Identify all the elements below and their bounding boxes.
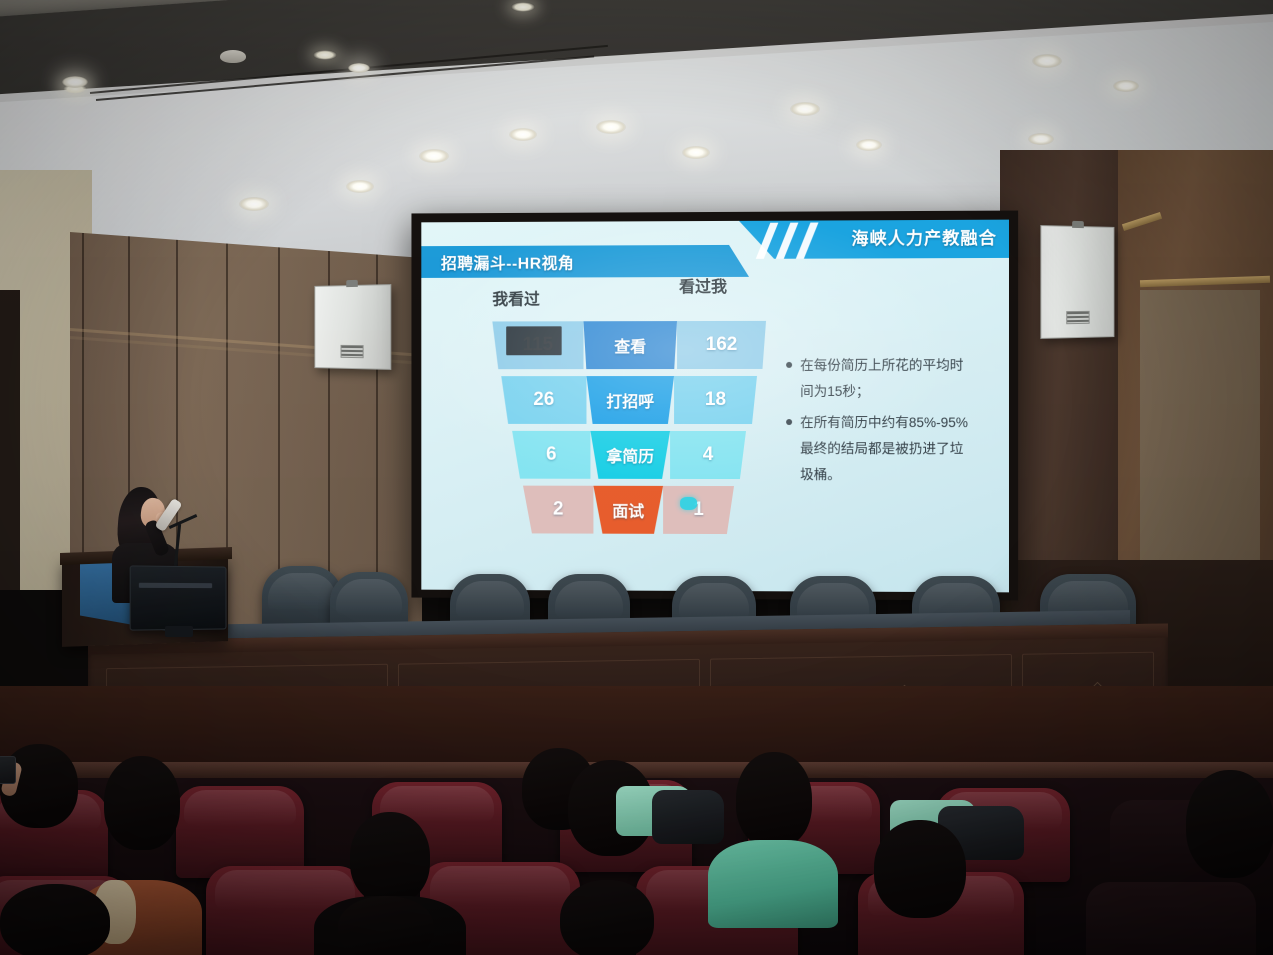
- funnel-right-value: 1: [663, 486, 734, 534]
- funnel-row: 115 查看 162: [492, 321, 766, 369]
- audience-seat: [1086, 882, 1256, 955]
- ceiling-downlight: [682, 146, 710, 159]
- ceiling-downlight: [346, 180, 374, 193]
- ceiling-downlight: [790, 102, 820, 116]
- mouse-cursor-highlight[interactable]: [680, 497, 697, 510]
- ceiling-downlight: [596, 120, 626, 134]
- speaker-grill-icon: [341, 345, 364, 358]
- funnel-stage-label: 面试: [593, 486, 663, 534]
- bullet-line: 间为15秒；: [800, 384, 869, 399]
- speaker-grill-icon: [1066, 311, 1089, 324]
- left-wall-dark-edge: [0, 290, 20, 590]
- bullet-line: 最终的结局都是被扔进了垃: [800, 441, 963, 456]
- slide-title: 招聘漏斗--HR视角: [441, 250, 574, 274]
- ceiling-downlight: [348, 63, 370, 73]
- audience-phone: [0, 756, 16, 784]
- audience-person-head: [104, 756, 180, 850]
- funnel-header-left: 我看过: [492, 286, 540, 310]
- slide-bullet-list: 在每份简历上所花的平均时 间为15秒； 在所有简历中约有85%-95% 最终的结…: [786, 353, 993, 494]
- ceiling-downlight: [856, 139, 882, 151]
- speaker-bracket: [346, 280, 358, 287]
- photo-scene: 海峡人力产教融合 招聘漏斗--HR视角 我看过 看过我 115 查看 162 2…: [0, 0, 1273, 955]
- audience-person-head: [736, 752, 812, 848]
- audience-person-head: [338, 896, 434, 955]
- screen-occlusion-artifact: [506, 326, 561, 355]
- funnel-header-right: 看过我: [679, 273, 727, 297]
- audience-person-shoulders: [708, 840, 838, 928]
- smoke-detector-icon: [220, 50, 246, 63]
- recruitment-funnel-chart: 我看过 看过我 115 查看 162 26 打招呼 18 6: [492, 321, 766, 541]
- ceiling-downlight: [509, 128, 537, 141]
- audience-person-head: [350, 812, 430, 904]
- ceiling-downlight: [1032, 54, 1062, 68]
- funnel-right-value: 4: [670, 431, 746, 479]
- audience-seat: [176, 786, 304, 878]
- wall-speaker-left: [314, 284, 391, 370]
- bullet-line: 圾桶。: [800, 467, 841, 482]
- monitor-stand: [165, 626, 193, 637]
- funnel-left-value: 26: [501, 376, 586, 424]
- podium-monitor[interactable]: [130, 565, 227, 630]
- monitor-screen-reflection: [139, 583, 212, 588]
- funnel-right-value: 18: [674, 376, 757, 424]
- projected-slide: 海峡人力产教融合 招聘漏斗--HR视角 我看过 看过我 115 查看 162 2…: [421, 220, 1009, 593]
- ceiling-downlight: [1113, 80, 1139, 92]
- wall-speaker-right: [1040, 225, 1114, 339]
- funnel-right-value: 162: [677, 321, 766, 369]
- audience-person-head: [1186, 770, 1273, 878]
- ceiling-downlight: [1028, 133, 1054, 145]
- funnel-left-value: 6: [512, 431, 590, 479]
- ceiling-downlight: [313, 50, 337, 60]
- bullet-line: 在所有简历中约有85%-95%: [800, 415, 968, 430]
- ceiling-downlight: [511, 2, 535, 12]
- audience-person-head: [560, 880, 654, 955]
- projection-screen-frame: 海峡人力产教融合 招聘漏斗--HR视角 我看过 看过我 115 查看 162 2…: [411, 211, 1018, 601]
- funnel-row: 2 面试 1: [523, 486, 734, 534]
- bullet-item: 在每份简历上所花的平均时 间为15秒；: [786, 353, 993, 406]
- bullet-item: 在所有简历中约有85%-95% 最终的结局都是被扔进了垃 圾桶。: [786, 410, 993, 490]
- funnel-row: 26 打招呼 18: [501, 376, 757, 424]
- speaker-bracket: [1072, 221, 1084, 228]
- audience-person-head: [874, 820, 966, 918]
- audience-person-head: [0, 884, 110, 955]
- ceiling-downlight: [239, 197, 269, 211]
- bullet-line: 在每份简历上所花的平均时: [800, 358, 963, 373]
- audience-backpack: [652, 790, 724, 844]
- funnel-left-value: 2: [523, 486, 593, 534]
- banner-slashes-icon: [763, 222, 849, 258]
- funnel-stage-label: 查看: [583, 321, 677, 369]
- ceiling-downlight: [62, 76, 88, 88]
- funnel-stage-label: 打招呼: [586, 376, 674, 424]
- funnel-row: 6 拿简历 4: [512, 431, 746, 479]
- slide-banner-text: 海峡人力产教融合: [851, 224, 996, 250]
- funnel-stage-label: 拿简历: [590, 431, 670, 479]
- ceiling-downlight: [419, 149, 449, 163]
